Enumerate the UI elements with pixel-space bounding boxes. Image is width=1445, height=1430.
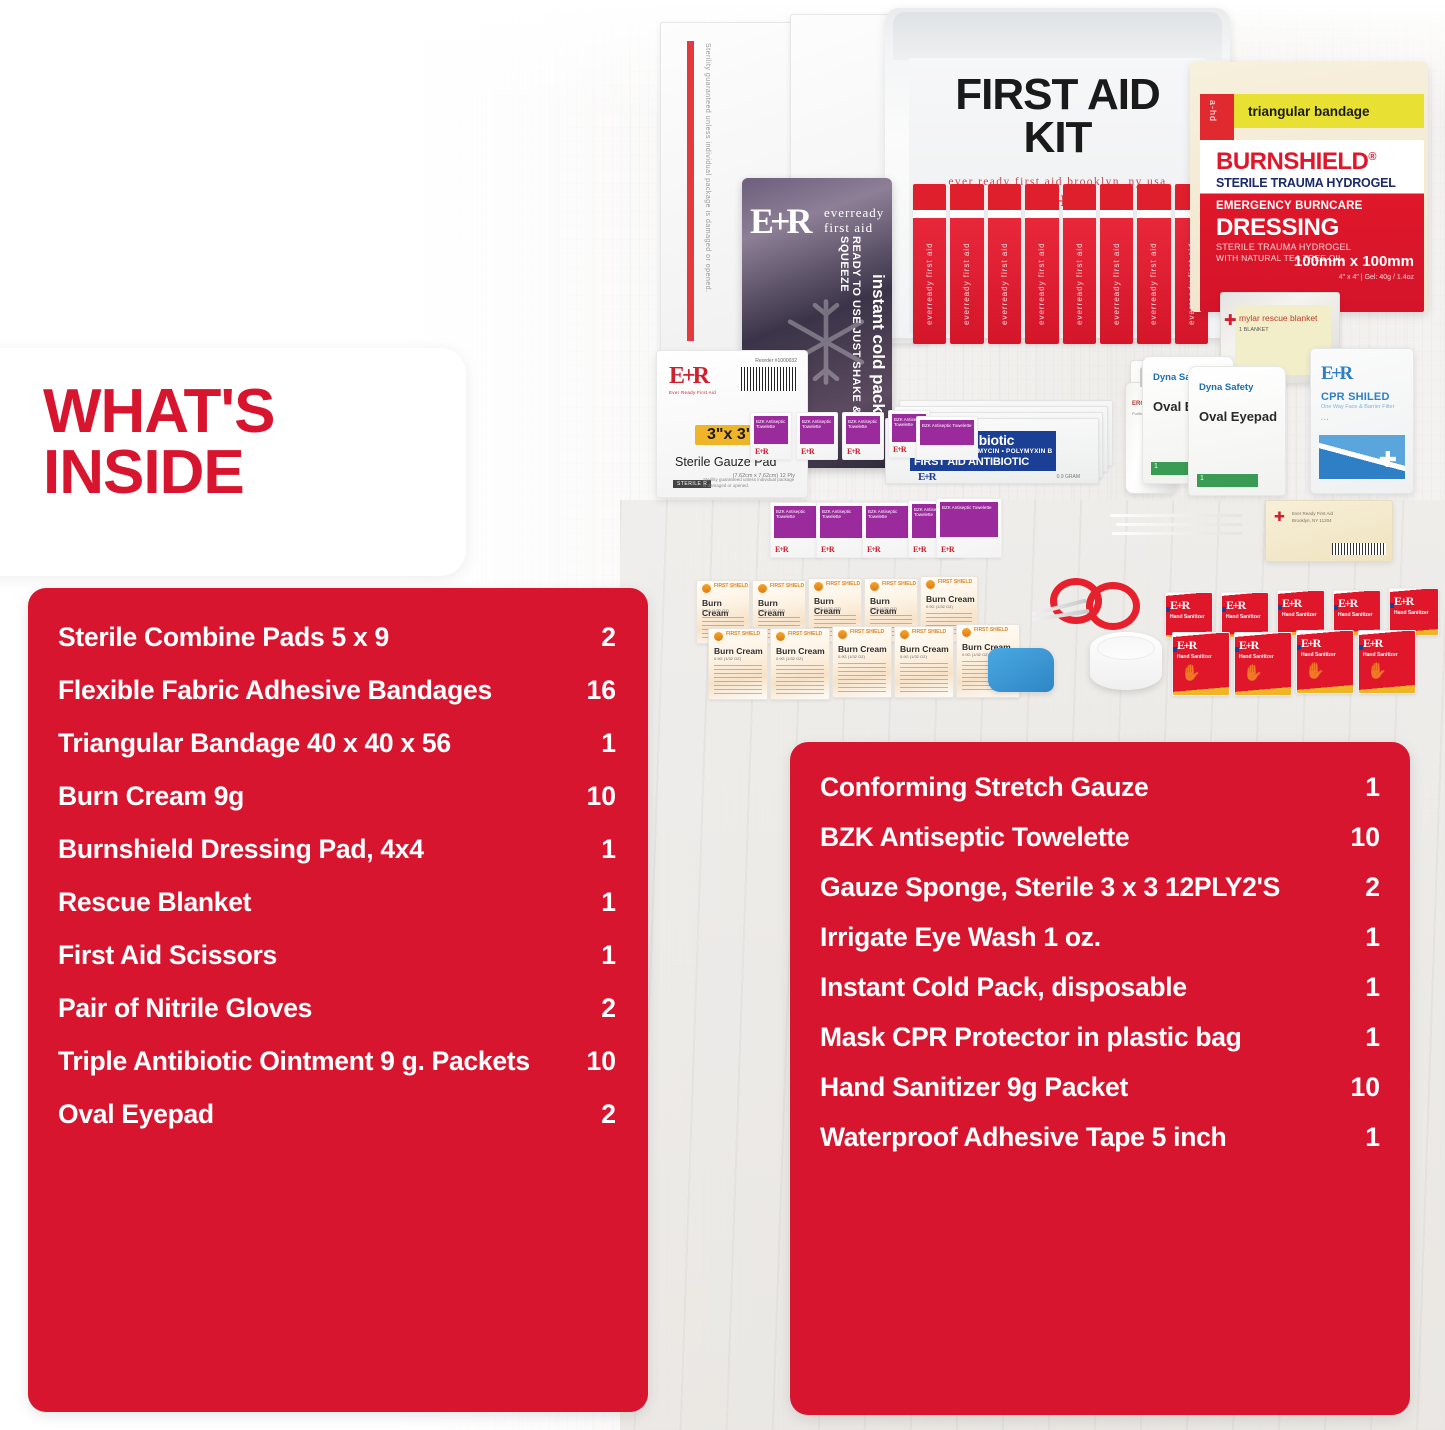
hand-icon: ✋	[1243, 663, 1263, 683]
list-item: Instant Cold Pack, disposable1	[820, 972, 1380, 1003]
list-item: Conforming Stretch Gauze1	[820, 772, 1380, 803]
first-shield-logo-icon	[962, 628, 971, 637]
page-title: WHAT'S INSIDE	[43, 382, 473, 504]
bzk-towelette: BZK Antiseptic Towelette	[916, 416, 978, 460]
item-label: BZK Antiseptic Towelette	[820, 822, 1332, 853]
oval-eyepad-green-bar: 1	[1197, 474, 1258, 487]
list-item: Pair of Nitrile Gloves2	[58, 993, 616, 1024]
item-label: Burn Cream 9g	[58, 781, 568, 812]
bzk-er-logo: E+R	[893, 445, 906, 454]
item-qty: 1	[582, 728, 616, 759]
hand-sanitizer-packet: E+RHand Sanitizer✋	[1234, 632, 1292, 696]
list-item: Irrigate Eye Wash 1 oz.1	[820, 922, 1380, 953]
burn-cream-subtitle: 0.9G (1/32 OZ)	[702, 608, 729, 613]
bzk-towelette: BZK Antiseptic ToweletteE+R	[750, 412, 792, 460]
bandage-box: everready first aid	[1025, 184, 1058, 344]
burn-cream-brand: FIRST SHIELD	[770, 584, 804, 589]
burn-cream-brand: FIRST SHIELD	[788, 632, 822, 637]
first-shield-logo-icon	[702, 584, 711, 593]
cold-pack-brand-line1: everready	[824, 206, 884, 221]
red-cross-icon: ✚	[1274, 509, 1285, 525]
item-qty: 1	[1346, 972, 1380, 1003]
cold-pack-brand: everready first aid	[824, 206, 884, 236]
bandage-box: everready first aid	[1137, 184, 1170, 344]
item-label: Mask CPR Protector in plastic bag	[820, 1022, 1332, 1053]
nitrile-gloves	[988, 648, 1054, 692]
item-label: Waterproof Adhesive Tape 5 inch	[820, 1122, 1332, 1153]
cpr-shield-subtitle: One Way Face & Barrier Filter	[1321, 404, 1394, 410]
burn-cream-name: Burn Cream	[714, 646, 763, 656]
first-shield-logo-icon	[814, 582, 823, 591]
list-item: Gauze Sponge, Sterile 3 x 3 12PLY2'S2	[820, 872, 1380, 903]
burnshield-size-imperial: 4" x 4" | Gel: 40g / 1.4oz	[1339, 274, 1414, 281]
hand-sanitizer-name: Hand Sanitizer	[1301, 652, 1336, 658]
item-label: Triple Antibiotic Ointment 9 g. Packets	[58, 1046, 568, 1077]
red-cross-icon: ✚	[1224, 311, 1237, 329]
bzk-towelette: BZK Antiseptic ToweletteE+R	[936, 498, 1002, 558]
first-shield-logo-icon	[900, 630, 909, 639]
cotton-swab	[1112, 532, 1242, 535]
hand-sanitizer-name: Hand Sanitizer	[1239, 654, 1274, 660]
bandage-box-label: everready first aid	[1025, 224, 1058, 344]
first-shield-logo-icon	[926, 580, 935, 589]
sleeve-fine-print: Sterility guaranteed unless individual p…	[697, 43, 711, 345]
oval-eyepad-name: Oval Eyepad	[1199, 409, 1277, 424]
item-qty: 10	[1346, 822, 1380, 853]
bandage-box-label: everready first aid	[1100, 224, 1133, 344]
hand-icon: ✋	[1367, 661, 1387, 681]
list-item: Triangular Bandage 40 x 40 x 561	[58, 728, 616, 759]
combine-pad-label: Ever Ready First AidBrooklyn, NY 11204	[1292, 510, 1333, 524]
registered-mark-icon: ®	[1368, 151, 1376, 163]
bzk-label: BZK Antiseptic Towelette	[848, 419, 883, 429]
hand-sanitizer-er-logo: E+R	[1394, 594, 1413, 609]
burn-cream-brand: FIRST SHIELD	[912, 630, 946, 635]
title-line-2: INSIDE	[43, 443, 473, 504]
bandage-box-label: everready first aid	[1137, 224, 1170, 344]
triangular-bandage-label: triangular bandage	[1248, 104, 1370, 119]
burn-cream-subtitle: 0.9G (1/32 OZ)	[962, 652, 989, 657]
item-label: Gauze Sponge, Sterile 3 x 3 12PLY2'S	[820, 872, 1332, 903]
burnshield-name: BURNSHIELD	[1216, 148, 1368, 175]
hand-sanitizer-name: Hand Sanitizer	[1394, 610, 1429, 616]
contents-panel-left: Sterile Combine Pads 5 x 92 Flexible Fab…	[28, 588, 648, 1412]
gauze-pad-fine-print: Sterility guaranteed unless individual p…	[703, 477, 795, 489]
list-item: Oval Eyepad2	[58, 1099, 616, 1130]
hand-sanitizer-er-logo: E+R	[1170, 598, 1189, 613]
burn-cream-subtitle: 0.9G (1/32 OZ)	[776, 656, 803, 661]
contents-panel-right: Conforming Stretch Gauze1 BZK Antiseptic…	[790, 742, 1410, 1415]
bandage-box: everready first aid	[950, 184, 983, 344]
medical-cross-icon: ✚	[1379, 449, 1397, 471]
cold-pack-brand-line2: first aid	[824, 221, 884, 236]
kit-box-lid	[893, 12, 1222, 60]
bzk-er-logo: E+R	[775, 545, 788, 554]
bzk-towelette: BZK Antiseptic ToweletteE+R	[816, 502, 868, 558]
hand-sanitizer-packet: E+RHand Sanitizer✋	[1296, 630, 1354, 694]
bzk-label: BZK Antiseptic Towelette	[802, 419, 837, 429]
kit-title-line1: FIRST AID	[955, 74, 1159, 116]
hand-sanitizer-name: Hand Sanitizer	[1282, 612, 1317, 618]
burn-cream-brand: FIRST SHIELD	[938, 580, 972, 585]
first-shield-logo-icon	[776, 632, 785, 641]
bzk-towelette: BZK Antiseptic ToweletteE+R	[842, 412, 884, 460]
item-label: Oval Eyepad	[58, 1099, 568, 1130]
item-qty: 10	[1346, 1072, 1380, 1103]
gauze-pad-er-logo: E+REver Ready First Aid	[669, 363, 716, 395]
burnshield-fine1: STERILE TRAUMA HYDROGEL	[1216, 242, 1351, 252]
hand-sanitizer-er-logo: E+R	[1226, 598, 1245, 613]
bandage-box-label: everready first aid	[1063, 224, 1096, 344]
burn-cream-subtitle: 0.9G (1/32 OZ)	[900, 654, 927, 659]
burn-cream-brand: FIRST SHIELD	[726, 632, 760, 637]
hand-icon: ✋	[1181, 663, 1201, 683]
first-aid-kit-box: FIRST AID KIT ever ready first aid brook…	[885, 8, 1230, 338]
item-qty: 10	[582, 1046, 616, 1077]
bandage-box-label: everready first aid	[1175, 224, 1208, 344]
item-qty: 1	[1346, 1122, 1380, 1153]
gauze-pad-reorder: Reorder #1000032	[755, 358, 797, 364]
first-aid-scissors	[1040, 572, 1158, 638]
item-qty: 10	[582, 781, 616, 812]
gauze-pad-logo-sub: Ever Ready First Aid	[669, 390, 716, 395]
kit-title-line2: KIT	[1024, 116, 1092, 160]
bzk-er-logo: E+R	[867, 545, 880, 554]
burn-cream-packet: FIRST SHIELDBurn Cream0.9G (1/32 OZ)	[832, 626, 892, 698]
bzk-towelette: BZK Antiseptic ToweletteE+R	[862, 502, 914, 558]
item-qty: 2	[582, 1099, 616, 1130]
bandage-box: everready first aid	[988, 184, 1021, 344]
cpr-shield-name: CPR SHILED	[1321, 391, 1390, 403]
item-label: Instant Cold Pack, disposable	[820, 972, 1332, 1003]
burnshield-dressing: DRESSING	[1216, 214, 1339, 242]
cotton-swab	[1110, 514, 1242, 517]
burn-cream-brand: FIRST SHIELD	[850, 630, 884, 635]
bzk-er-logo: E+R	[913, 545, 926, 554]
cold-pack-er-logo: E+R	[750, 200, 809, 242]
bzk-label: BZK Antiseptic Towelette	[942, 505, 991, 510]
burn-cream-name: Burn Cream	[838, 644, 887, 654]
cotton-swabs-group	[1110, 510, 1250, 544]
item-label: Irrigate Eye Wash 1 oz.	[820, 922, 1332, 953]
item-label: Pair of Nitrile Gloves	[58, 993, 568, 1024]
hand-sanitizer-er-logo: E+R	[1363, 636, 1382, 651]
hand-sanitizer-name: Hand Sanitizer	[1226, 614, 1261, 620]
waterproof-adhesive-tape-roll	[1090, 632, 1162, 690]
cpr-shield-package: E+R CPR SHILED One Way Face & Barrier Fi…	[1310, 348, 1414, 494]
item-qty: 2	[1346, 872, 1380, 903]
bandage-box-label: everready first aid	[950, 224, 983, 344]
burn-cream-subtitle: 0.9G (1/32 OZ)	[714, 656, 741, 661]
burn-cream-subtitle: 0.9G (1/32 OZ)	[870, 606, 897, 611]
hand-sanitizer-name: Hand Sanitizer	[1338, 612, 1373, 618]
bzk-towelette: BZK Antiseptic ToweletteE+R	[796, 412, 838, 460]
bandage-box: everready first aid	[1063, 184, 1096, 344]
item-qty: 1	[582, 834, 616, 865]
bzk-er-logo: E+R	[801, 447, 814, 456]
item-qty: 2	[582, 993, 616, 1024]
hand-sanitizer-packet: E+RHand Sanitizer✋	[1358, 630, 1416, 694]
bzk-towelette: BZK Antiseptic ToweletteE+R	[770, 502, 822, 558]
list-item: Burn Cream 9g10	[58, 781, 616, 812]
item-label: Rescue Blanket	[58, 887, 568, 918]
cold-pack-name: instant cold pack	[868, 274, 888, 413]
burn-cream-subtitle: 0.9G (1/32 OZ)	[838, 654, 865, 659]
burn-cream-subtitle: 0.9G (1/32 OZ)	[926, 604, 953, 609]
bandage-box: everready first aid	[1100, 184, 1133, 344]
scissor-handle-right	[1086, 582, 1140, 630]
list-item: Hand Sanitizer 9g Packet10	[820, 1072, 1380, 1103]
first-shield-logo-icon	[838, 630, 847, 639]
hand-sanitizer-name: Hand Sanitizer	[1363, 652, 1398, 658]
bzk-label: BZK Antiseptic Towelette	[868, 509, 913, 519]
item-qty: 1	[582, 940, 616, 971]
hand-sanitizer-er-logo: E+R	[1282, 596, 1301, 611]
combine-pad-package: ✚ Ever Ready First AidBrooklyn, NY 11204	[1265, 500, 1393, 562]
burn-cream-packet: FIRST SHIELDBurn Cream0.9G (1/32 OZ)	[770, 628, 830, 700]
item-label: Sterile Combine Pads 5 x 9	[58, 622, 568, 653]
triple-antibiotic-weight: 0.9 GRAM	[1057, 474, 1080, 480]
list-item: Triple Antibiotic Ointment 9 g. Packets1…	[58, 1046, 616, 1077]
oval-eyepad-count: 1	[1154, 463, 1158, 470]
bzk-label: BZK Antiseptic Towelette	[776, 509, 821, 519]
bzk-er-logo: E+R	[847, 447, 860, 456]
item-label: First Aid Scissors	[58, 940, 568, 971]
burn-cream-subtitle: 0.9G (1/32 OZ)	[814, 606, 841, 611]
mylar-name: mylar rescue blanket	[1239, 313, 1317, 323]
bandage-box-label: everready first aid	[988, 224, 1021, 344]
hand-sanitizer-er-logo: E+R	[1301, 636, 1320, 651]
bzk-label: BZK Antiseptic Towelette	[756, 419, 791, 429]
item-qty: 1	[582, 887, 616, 918]
mylar-count: 1 BLANKET	[1239, 327, 1269, 333]
hand-sanitizer-packet: E+RHand Sanitizer✋	[1172, 632, 1230, 696]
hand-sanitizer-er-logo: E+R	[1239, 638, 1258, 653]
list-item: Flexible Fabric Adhesive Bandages16	[58, 675, 616, 706]
bandage-box: everready first aid	[913, 184, 946, 344]
burn-cream-packet: FIRST SHIELDBurn Cream0.9G (1/32 OZ)	[708, 628, 768, 700]
burn-cream-subtitle: 0.9G (1/32 OZ)	[758, 608, 785, 613]
item-label: Triangular Bandage 40 x 40 x 56	[58, 728, 568, 759]
list-item: BZK Antiseptic Towelette10	[820, 822, 1380, 853]
burn-cream-packet: FIRST SHIELDBurn Cream0.9G (1/32 OZ)	[894, 626, 954, 698]
burnshield-emergency: EMERGENCY BURNCARE	[1216, 200, 1363, 212]
burn-cream-brand: FIRST SHIELD	[974, 628, 1008, 633]
item-label: Burnshield Dressing Pad, 4x4	[58, 834, 568, 865]
burnshield-subtitle: STERILE TRAUMA HYDROGEL	[1216, 176, 1396, 190]
list-item: Sterile Combine Pads 5 x 92	[58, 622, 616, 653]
first-shield-logo-icon	[758, 584, 767, 593]
bandage-box-label: everready first aid	[913, 224, 946, 344]
list-item: Burnshield Dressing Pad, 4x41	[58, 834, 616, 865]
hand-sanitizer-er-logo: E+R	[1177, 638, 1196, 653]
cotton-swab	[1116, 523, 1242, 526]
burn-cream-name: Burn Cream	[900, 644, 949, 654]
bandage-box-row: everready first aid everready first aid …	[913, 184, 1208, 344]
item-qty: 1	[1346, 1022, 1380, 1053]
burn-cream-brand: FIRST SHIELD	[826, 582, 860, 587]
bzk-er-logo: E+R	[941, 545, 954, 554]
bzk-er-logo: E+R	[755, 447, 768, 456]
burn-cream-brand: FIRST SHIELD	[882, 582, 916, 587]
title-line-1: WHAT'S	[43, 377, 274, 446]
burnshield-brand: BURNSHIELD®	[1216, 148, 1376, 176]
hand-sanitizer-name: Hand Sanitizer	[1170, 614, 1205, 620]
burn-cream-name: Burn Cream	[776, 646, 825, 656]
hand-sanitizer-er-logo: E+R	[1338, 596, 1357, 611]
hand-sanitizer-name: Hand Sanitizer	[1177, 654, 1212, 660]
product-photo: Sterility guaranteed unless individual p…	[620, 0, 1445, 760]
item-qty: 16	[582, 675, 616, 706]
oval-eyepad-package-front: Dyna Safety Oval Eyepad 1	[1188, 366, 1286, 496]
list-item: Mask CPR Protector in plastic bag1	[820, 1022, 1380, 1053]
triangular-bandage-brand: a-hd	[1208, 100, 1218, 122]
first-shield-logo-icon	[714, 632, 723, 641]
burn-cream-name: Burn Cream	[926, 594, 975, 604]
list-item: Rescue Blanket1	[58, 887, 616, 918]
bzk-label: BZK Antiseptic Towelette	[822, 509, 867, 519]
burnshield-size-metric: 100mm x 100mm	[1294, 253, 1414, 270]
item-qty: 1	[1346, 922, 1380, 953]
item-label: Conforming Stretch Gauze	[820, 772, 1332, 803]
item-label: Hand Sanitizer 9g Packet	[820, 1072, 1332, 1103]
hand-sanitizer-packet: E+RHand Sanitizer	[1389, 588, 1439, 636]
oval-eyepad-count: 1	[1200, 475, 1204, 482]
item-label: Flexible Fabric Adhesive Bandages	[58, 675, 568, 706]
cpr-er-logo: E+R	[1321, 363, 1351, 385]
list-item: First Aid Scissors1	[58, 940, 616, 971]
item-qty: 2	[582, 622, 616, 653]
list-item: Waterproof Adhesive Tape 5 inch1	[820, 1122, 1380, 1153]
cpr-shield-bullets: • • •	[1321, 415, 1328, 426]
triple-antibiotic-er-logo: E+R	[918, 471, 935, 483]
burn-cream-brand: FIRST SHIELD	[714, 584, 748, 589]
triangular-bandage-package: a-hd triangular bandage BURNSHIELD® STER…	[1190, 62, 1428, 312]
barcode-icon	[1332, 543, 1386, 555]
sleeve-red-bar	[687, 41, 694, 341]
bzk-label: BZK Antiseptic Towelette	[922, 423, 971, 428]
item-qty: 1	[1346, 772, 1380, 803]
bzk-er-logo: E+R	[821, 545, 834, 554]
hand-icon: ✋	[1305, 661, 1325, 681]
oval-eyepad-brand: Dyna Safety	[1199, 383, 1253, 393]
burnshield-package: BURNSHIELD® STERILE TRAUMA HYDROGEL EMER…	[1200, 140, 1424, 312]
first-shield-logo-icon	[870, 582, 879, 591]
barcode-icon	[741, 367, 797, 391]
